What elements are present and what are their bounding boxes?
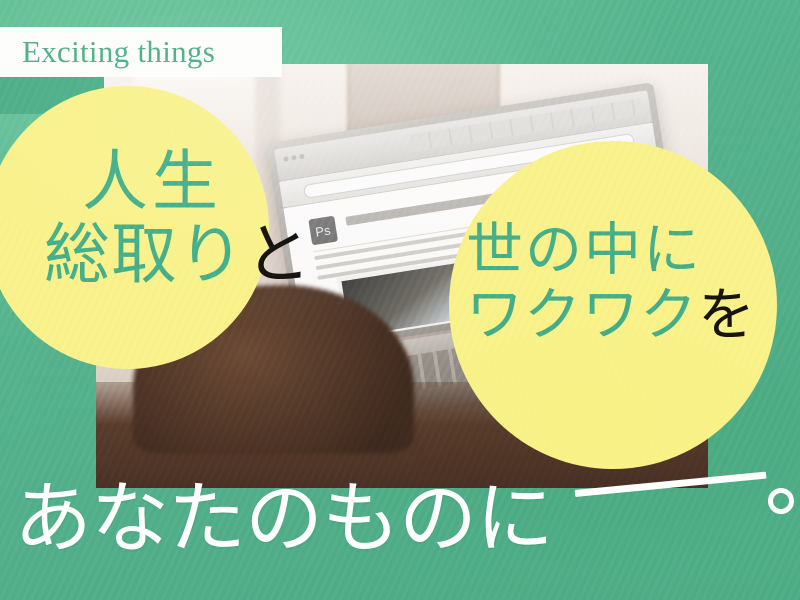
headline-left-line2: 総取りと <box>44 220 294 291</box>
headline-left-line2-black: と <box>245 219 312 292</box>
headline-left-line1-text: 人生 <box>82 146 222 219</box>
eyebrow-label-text: Exciting things <box>22 34 215 70</box>
tagline-period-icon <box>768 488 794 514</box>
eyebrow-label: Exciting things <box>0 27 282 77</box>
headline-left: 人生 総取りと <box>44 150 294 291</box>
headline-left-line1: 人生 <box>44 150 294 216</box>
headline-right-line2-black: を <box>698 284 756 347</box>
banner-canvas: Exciting things 人生 総取りと 世の中に ワクワクを あなたのも… <box>0 0 800 600</box>
headline-right-line1: 世の中に <box>466 222 796 279</box>
headline-right-line2: ワクワクを <box>466 285 796 347</box>
headline-right: 世の中に ワクワクを <box>466 222 796 347</box>
headline-right-line2-green: ワクワク <box>466 284 698 347</box>
headline-right-line1-text: 世の中に <box>466 219 702 282</box>
tagline-text: あなたのものに <box>14 480 553 558</box>
headline-left-line2-green: 総取り <box>44 219 245 292</box>
